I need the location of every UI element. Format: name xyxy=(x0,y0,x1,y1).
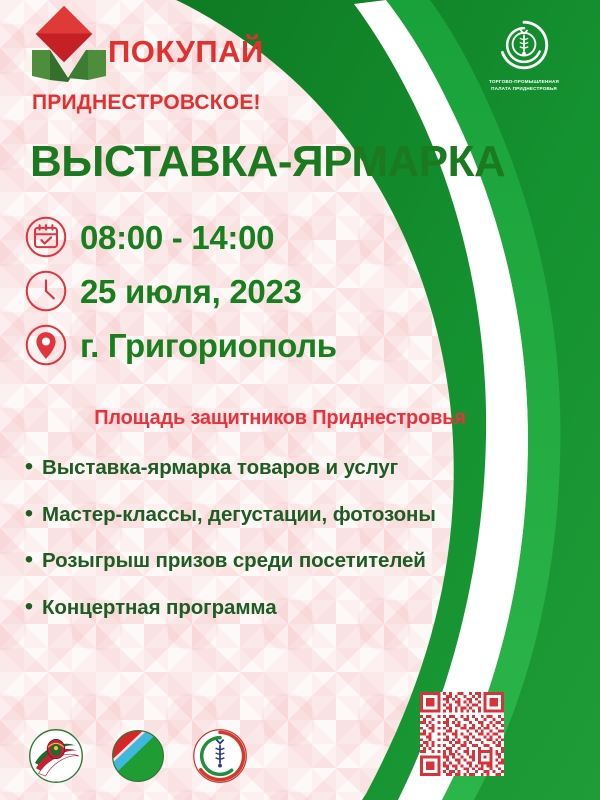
bullet-marker-icon: • xyxy=(16,595,42,619)
list-item: • Мастер-классы, дегустации, фотозоны xyxy=(16,502,536,527)
info-value-date: 25 июля, 2023 xyxy=(80,275,302,308)
clock-icon xyxy=(24,269,68,313)
grigoriopol-flag-circle-emblem-icon xyxy=(110,728,166,784)
bullet-marker-icon: • xyxy=(16,455,42,479)
activities-list: • Выставка-ярмарка товаров и услуг • Мас… xyxy=(16,455,536,641)
chamber-text: ТОРГОВО-ПРОМЫШЛЕННАЯ ПАЛАТА ПРИДНЕСТРОВЬ… xyxy=(466,79,582,93)
map-pin-icon xyxy=(24,323,68,367)
page-title: ВЫСТАВКА-ЯРМАРКА xyxy=(30,140,505,184)
list-item: • Выставка-ярмарка товаров и услуг xyxy=(16,455,536,480)
chamber-of-commerce-caduceus-icon xyxy=(497,18,551,72)
list-item-label: Розыгрыш призов среди посетителей xyxy=(42,550,426,573)
qr-code-icon[interactable] xyxy=(420,692,504,776)
info-value-location: г. Григориополь xyxy=(80,329,337,362)
bullet-marker-icon: • xyxy=(16,502,42,526)
background-diamond-pattern xyxy=(0,0,600,800)
list-item-label: Концертная программа xyxy=(42,597,277,620)
list-item: • Концертная программа xyxy=(16,595,536,620)
event-info-list: 08:00 - 14:00 25 июля, 2023 г. Григориоп… xyxy=(24,213,444,375)
list-item-label: Мастер-классы, дегустации, фотозоны xyxy=(42,504,436,527)
chamber-caduceus-circle-emblem-icon xyxy=(192,728,248,784)
list-item: • Розыгрыш призов среди посетителей xyxy=(16,548,536,573)
bullet-marker-icon: • xyxy=(16,548,42,572)
venue-subtitle: Площадь защитников Приднестровья xyxy=(0,407,600,430)
info-row-location: г. Григориополь xyxy=(24,321,444,369)
calendar-check-icon xyxy=(24,215,68,259)
info-row-date: 25 июля, 2023 xyxy=(24,267,444,315)
partner-emblems xyxy=(28,728,248,784)
brand-logo: ПОКУПАЙ ПРИДНЕСТРОВСКОЕ! xyxy=(26,14,256,86)
chamber-logo: ТОРГОВО-ПРОМЫШЛЕННАЯ ПАЛАТА ПРИДНЕСТРОВЬ… xyxy=(466,18,582,93)
pmr-coat-of-arms-swirl-emblem-icon xyxy=(28,728,84,784)
brand-line1: ПОКУПАЙ xyxy=(108,36,264,67)
brand-mark-icon xyxy=(32,14,106,86)
brand-line1-wrap: ПОКУПАЙ xyxy=(108,36,264,67)
info-row-time: 08:00 - 14:00 xyxy=(24,213,444,261)
info-value-time: 08:00 - 14:00 xyxy=(80,221,274,254)
poster-canvas: ПОКУПАЙ ПРИДНЕСТРОВСКОЕ! ТОРГОВО-ПРОМЫШЛ… xyxy=(0,0,600,800)
green-vee-icon xyxy=(32,50,106,82)
chamber-line1: ТОРГОВО-ПРОМЫШЛЕННАЯ xyxy=(466,79,582,86)
list-item-label: Выставка-ярмарка товаров и услуг xyxy=(42,457,398,480)
chamber-line2: ПАЛАТА ПРИДНЕСТРОВЬЯ xyxy=(466,86,582,93)
brand-line2: ПРИДНЕСТРОВСКОЕ! xyxy=(32,92,261,113)
